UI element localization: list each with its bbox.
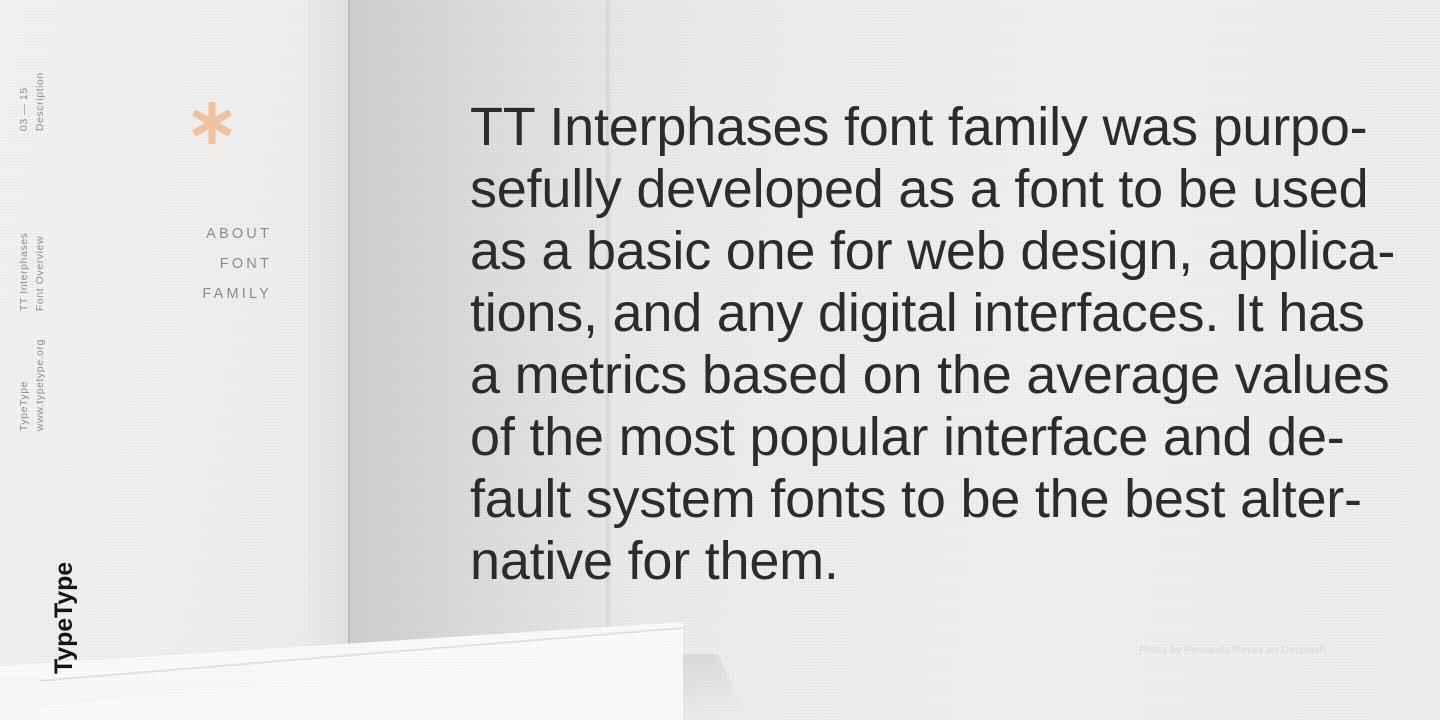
section-heading-line-1: ABOUT [120, 220, 272, 250]
section-heading-line-2: FONT [120, 250, 272, 280]
photo-credit: Photo by Fernando Reyes on Unsplash [1139, 645, 1326, 656]
section-heading-line-3: FAMILY [120, 280, 272, 310]
body-paragraph-line: a metrics based on the average values [470, 344, 1340, 406]
body-paragraph-line: sefully developed as a font to be used [470, 158, 1340, 220]
body-paragraph-line: native for them. [470, 530, 1340, 592]
body-paragraph: TT Interphases font family was purpo- se… [470, 96, 1340, 592]
body-paragraph-line: tions, and any digital interfaces. It ha… [470, 282, 1340, 344]
meta-rail: 03 — 15 Description TT Interphases Font … [0, 0, 120, 720]
meta-slide-number: 03 — 15 Description [17, 72, 48, 131]
meta-document-subtitle-value: Font Overview [32, 233, 48, 312]
meta-slide-number-value: 03 — 15 [17, 72, 33, 131]
wall-plane-reveal [308, 0, 349, 720]
meta-publisher: TypeType www.typetype.org [17, 339, 48, 431]
body-paragraph-line: fault system fonts to be the best alter- [470, 468, 1340, 530]
body-paragraph-line: of the most popular interface and de- [470, 406, 1340, 468]
meta-publisher-name: TypeType [17, 339, 33, 431]
meta-slide-number-label: Description [32, 72, 48, 131]
meta-publisher-url[interactable]: www.typetype.org [32, 339, 48, 431]
slide-canvas: 03 — 15 Description TT Interphases Font … [0, 0, 1440, 720]
meta-document-title-value: TT Interphases [17, 233, 33, 312]
asterisk-icon [191, 94, 233, 156]
body-paragraph-line: TT Interphases font family was purpo- [470, 96, 1340, 158]
typetype-logo: TypeType [50, 562, 79, 674]
meta-document-title: TT Interphases Font Overview [17, 233, 48, 312]
body-paragraph-line: as a basic one for web design, applica- [470, 220, 1340, 282]
section-heading: ABOUT FONT FAMILY [120, 220, 272, 310]
